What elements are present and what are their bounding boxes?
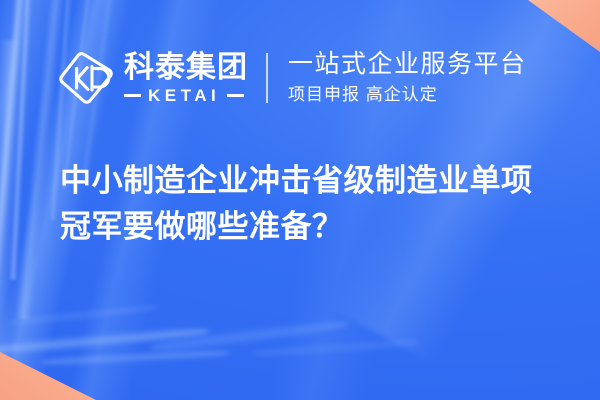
tagline-primary: 一站式企业服务平台 — [288, 50, 527, 79]
brand-name-cn: 科泰集团 — [124, 52, 248, 84]
brand-wordmark: 科泰集团 KETAI — [124, 52, 248, 104]
headline-title: 中小制造企业冲击省级制造业单项冠军要做哪些准备？ — [60, 158, 560, 250]
brand-header: 科泰集团 KETAI 一站式企业服务平台 项目申报 高企认定 — [58, 42, 527, 114]
tagline-secondary: 项目申报 高企认定 — [288, 85, 527, 105]
dash-right-icon — [227, 94, 244, 97]
header-divider — [266, 53, 268, 103]
diamond-kd-monogram-icon — [58, 50, 114, 106]
dash-left-icon — [124, 94, 141, 97]
brand-name-en-row: KETAI — [124, 87, 248, 104]
tagline-block: 一站式企业服务平台 项目申报 高企认定 — [288, 50, 527, 105]
brand-name-en: KETAI — [148, 87, 220, 104]
promo-banner: 科泰集团 KETAI 一站式企业服务平台 项目申报 高企认定 中小制造企业冲击省… — [0, 0, 600, 400]
